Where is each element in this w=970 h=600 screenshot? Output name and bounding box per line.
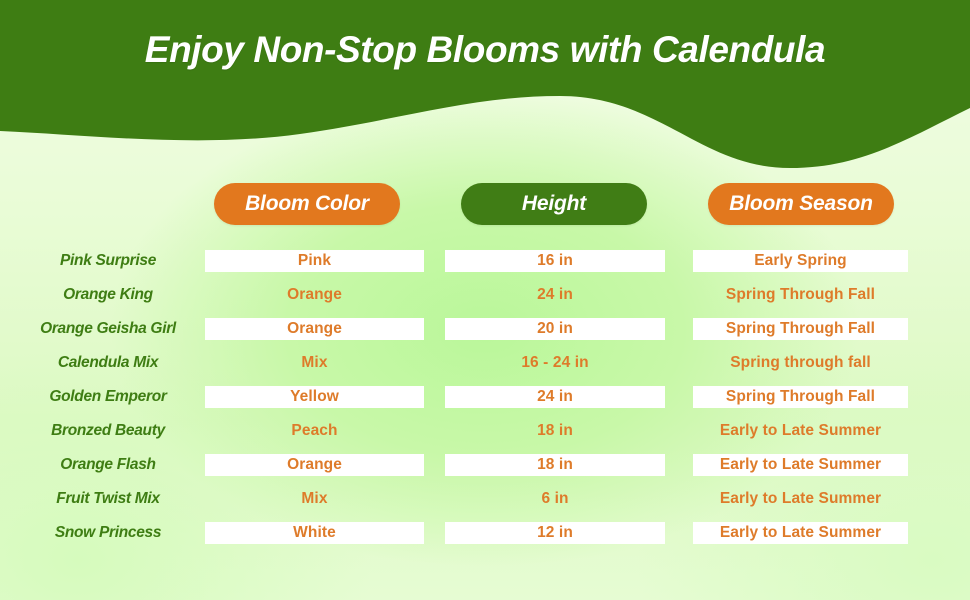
value-bloom-season: Early Spring xyxy=(693,244,908,278)
value-bloom-color: Yellow xyxy=(205,380,424,414)
value-bloom-season: Spring through fall xyxy=(693,346,908,380)
calendula-varieties-infographic: Enjoy Non-Stop Blooms with Calendula Blo… xyxy=(0,0,970,600)
value-height: 20 in xyxy=(445,312,665,346)
page-title: Enjoy Non-Stop Blooms with Calendula xyxy=(0,0,970,100)
value-bloom-season: Spring Through Fall xyxy=(693,278,908,312)
column-header-bloom-season: Bloom Season xyxy=(708,183,894,225)
value-height: 18 in xyxy=(445,414,665,448)
value-height: 6 in xyxy=(445,482,665,516)
value-bloom-color: Mix xyxy=(205,346,424,380)
value-bloom-color: Orange xyxy=(205,278,424,312)
table-row: Orange King Orange 24 in Spring Through … xyxy=(0,278,970,312)
table-header-row: Bloom Color Height Bloom Season xyxy=(0,178,970,230)
value-bloom-season: Spring Through Fall xyxy=(693,380,908,414)
variety-name: Orange Geisha Girl xyxy=(8,312,208,346)
variety-name: Golden Emperor xyxy=(8,380,208,414)
value-bloom-color: Mix xyxy=(205,482,424,516)
value-height: 24 in xyxy=(445,380,665,414)
value-bloom-color: Orange xyxy=(205,448,424,482)
value-bloom-season: Early to Late Summer xyxy=(693,414,908,448)
value-bloom-color: White xyxy=(205,516,424,550)
value-bloom-season: Spring Through Fall xyxy=(693,312,908,346)
table-row: Pink Surprise Pink 16 in Early Spring xyxy=(0,244,970,278)
value-bloom-color: Orange xyxy=(205,312,424,346)
value-bloom-season: Early to Late Summer xyxy=(693,482,908,516)
value-height: 16 - 24 in xyxy=(445,346,665,380)
table-row: Golden Emperor Yellow 24 in Spring Throu… xyxy=(0,380,970,414)
value-bloom-color: Peach xyxy=(205,414,424,448)
variety-name: Orange King xyxy=(8,278,208,312)
column-header-height: Height xyxy=(461,183,647,225)
column-header-bloom-color: Bloom Color xyxy=(214,183,400,225)
table-row: Bronzed Beauty Peach 18 in Early to Late… xyxy=(0,414,970,448)
variety-name: Calendula Mix xyxy=(8,346,208,380)
value-bloom-season: Early to Late Summer xyxy=(693,516,908,550)
value-height: 16 in xyxy=(445,244,665,278)
variety-name: Snow Princess xyxy=(8,516,208,550)
variety-name: Bronzed Beauty xyxy=(8,414,208,448)
variety-name: Pink Surprise xyxy=(8,244,208,278)
variety-name: Fruit Twist Mix xyxy=(8,482,208,516)
value-height: 12 in xyxy=(445,516,665,550)
table-body: Pink Surprise Pink 16 in Early Spring Or… xyxy=(0,244,970,550)
value-bloom-color: Pink xyxy=(205,244,424,278)
table-row: Orange Flash Orange 18 in Early to Late … xyxy=(0,448,970,482)
table-row: Orange Geisha Girl Orange 20 in Spring T… xyxy=(0,312,970,346)
table-row: Snow Princess White 12 in Early to Late … xyxy=(0,516,970,550)
value-bloom-season: Early to Late Summer xyxy=(693,448,908,482)
variety-name: Orange Flash xyxy=(8,448,208,482)
value-height: 24 in xyxy=(445,278,665,312)
varieties-table: Bloom Color Height Bloom Season Pink Sur… xyxy=(0,178,970,550)
header-banner: Enjoy Non-Stop Blooms with Calendula xyxy=(0,0,970,175)
table-row: Calendula Mix Mix 16 - 24 in Spring thro… xyxy=(0,346,970,380)
table-row: Fruit Twist Mix Mix 6 in Early to Late S… xyxy=(0,482,970,516)
value-height: 18 in xyxy=(445,448,665,482)
